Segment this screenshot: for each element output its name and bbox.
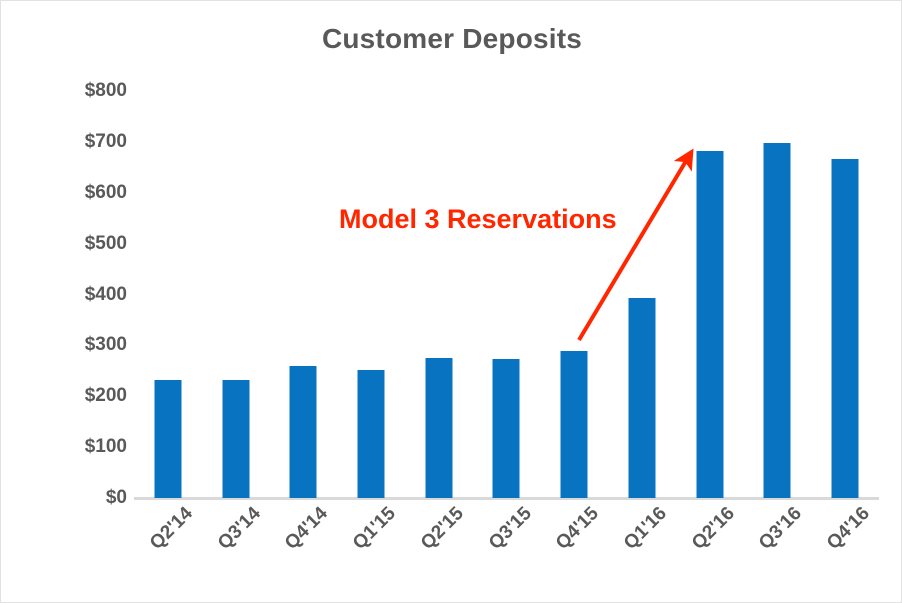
bar-slot (473, 91, 541, 498)
bar[interactable] (764, 143, 791, 498)
y-tick-label: $600 (57, 182, 127, 204)
bar-slot (337, 91, 405, 498)
bar[interactable] (290, 366, 317, 498)
bars-group (134, 91, 879, 498)
y-tick-label: $100 (57, 436, 127, 458)
bar[interactable] (493, 359, 520, 498)
chart-title: Customer Deposits (1, 23, 902, 55)
bar[interactable] (832, 159, 859, 498)
bar-slot (540, 91, 608, 498)
bar[interactable] (561, 351, 588, 498)
bar-slot (134, 91, 202, 498)
y-tick-label: $300 (57, 334, 127, 356)
y-axis-tick-labels: $800$700$600$500$400$300$200$100$0 (49, 1, 127, 603)
y-tick-label: $0 (57, 487, 127, 509)
bar[interactable] (358, 370, 385, 498)
bar-slot (811, 91, 879, 498)
bar-slot (269, 91, 337, 498)
bar[interactable] (154, 380, 181, 498)
y-tick-label: $800 (57, 80, 127, 102)
bar-slot (202, 91, 270, 498)
y-axis-title: Millions (0, 189, 2, 319)
x-axis-tick-labels: Q2'14Q3'14Q4'14Q1'15Q2'15Q3'15Q4'15Q1'16… (134, 503, 879, 603)
bar[interactable] (696, 151, 723, 498)
bar-slot (744, 91, 812, 498)
annotation-label: Model 3 Reservations (339, 204, 617, 235)
bar-slot (405, 91, 473, 498)
y-tick-label: $400 (57, 284, 127, 306)
y-tick-label: $200 (57, 385, 127, 407)
bar-slot (608, 91, 676, 498)
y-tick-label: $700 (57, 131, 127, 153)
bar[interactable] (628, 298, 655, 498)
bar[interactable] (425, 358, 452, 498)
chart-container: Customer Deposits Millions $800$700$600$… (0, 0, 902, 603)
bar-slot (676, 91, 744, 498)
bar[interactable] (222, 380, 249, 498)
y-tick-label: $500 (57, 233, 127, 255)
